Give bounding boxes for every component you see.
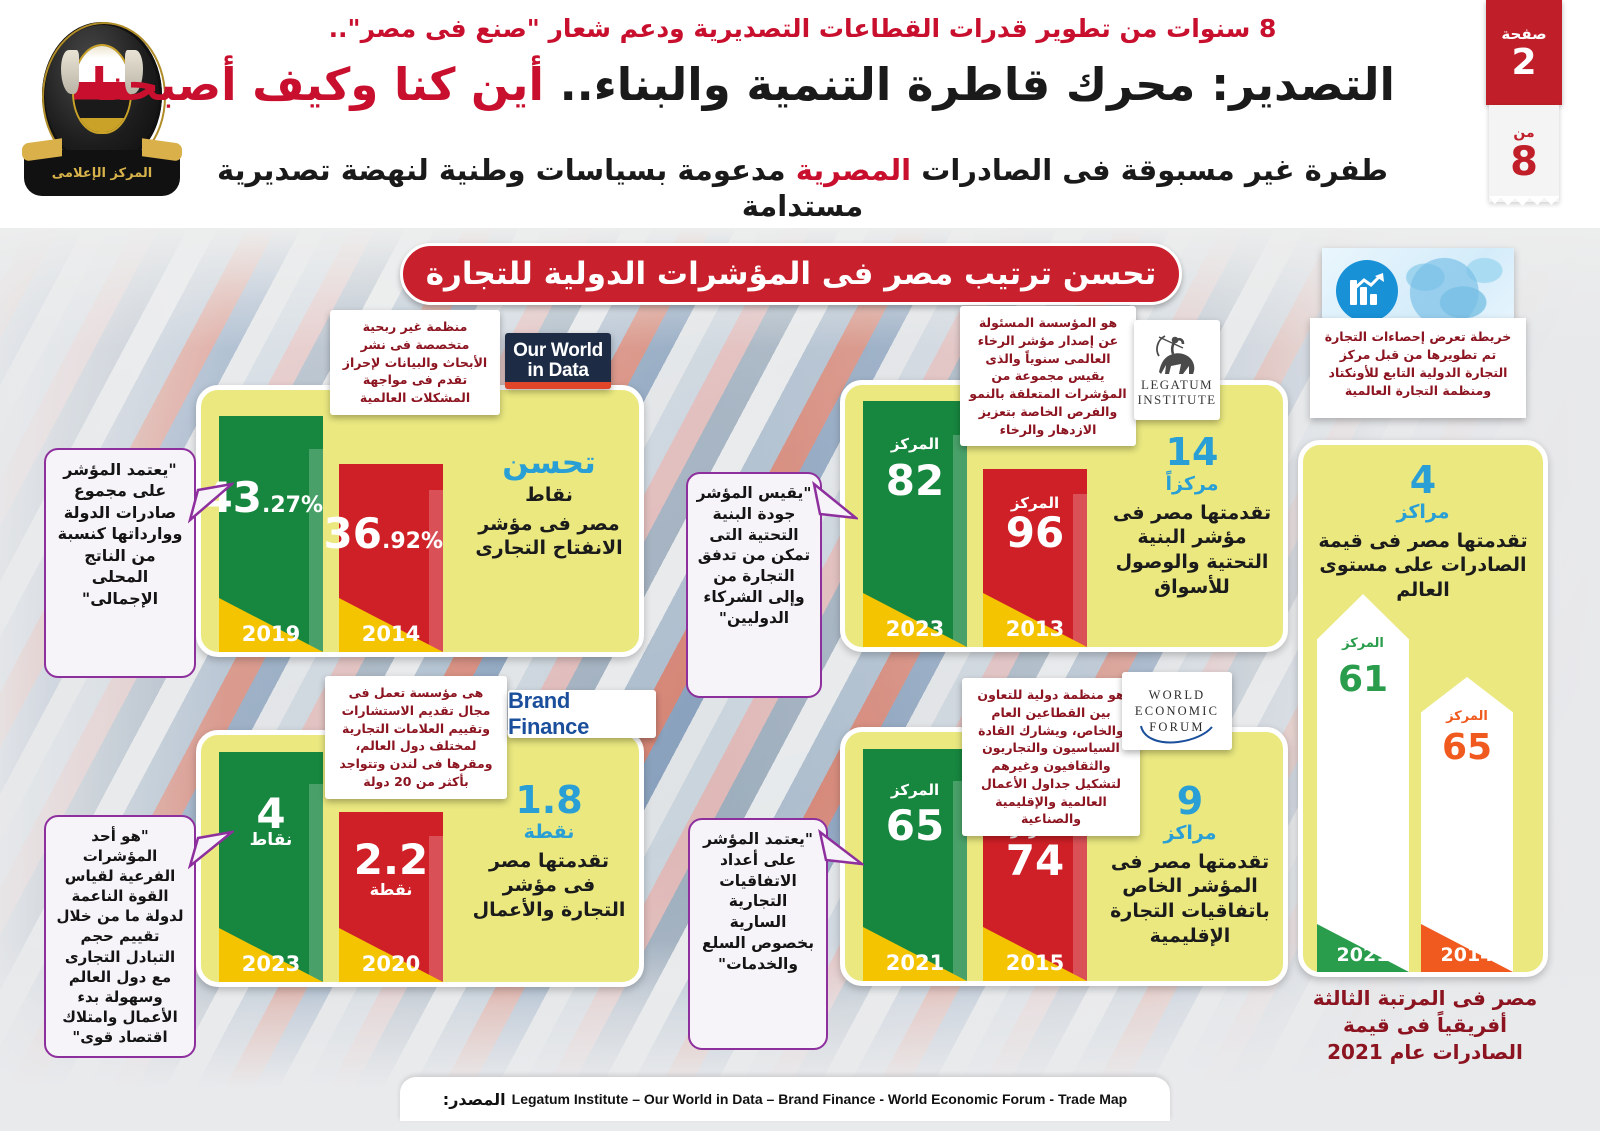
crest-banner-label: المركز الإعلامى [52, 166, 152, 181]
summary-text: تقدمتها مصر فى مؤشر البنية التحتية والوص… [1111, 501, 1273, 600]
legatum-line1: LEGATUM [1141, 377, 1213, 392]
bar-caption: المركز [863, 781, 967, 799]
summary-brand-trade: 1.8 نقطة تقدمتها مصر فى مؤشر التجارة وال… [471, 781, 627, 923]
bar-year: 2021 [863, 951, 967, 975]
bar-value: 2.2 [339, 839, 443, 881]
bar-value-main: 2.2 [354, 835, 428, 884]
section-banner-title: تحسن ترتيب مصر فى المؤشرات الدولية للتجا… [426, 256, 1157, 292]
bar-year: 2023 [219, 952, 323, 976]
wef-swoosh-icon [1138, 724, 1216, 744]
bar-value: 65 [863, 805, 967, 847]
note-brand-finance: هى مؤسسة تعمل فى مجال تقديم الاستشارات و… [325, 676, 507, 799]
bar-agree-2021: المركز 65 2021 [863, 749, 967, 981]
bar-year: 2014 [339, 622, 443, 646]
sources-list: Legatum Institute – Our World in Data – … [512, 1091, 1128, 1107]
our-world-in-data-logo: Our World in Data [505, 333, 611, 389]
callout-brand-trade: "هو أحد المؤشرات الفرعية لقياس القوة الن… [44, 815, 196, 1058]
bar-caption: المركز [863, 435, 967, 453]
summary-text: مصر فى مؤشر الانفتاح التجارى [473, 512, 625, 561]
sources-footer: Legatum Institute – Our World in Data – … [400, 1077, 1170, 1121]
bar-value-main: 96 [1006, 508, 1064, 557]
bar-value: 96 [983, 512, 1087, 554]
page-title-black: التصدير: محرك قاطرة التنمية والبناء.. [560, 58, 1395, 111]
note-world-economic-forum: هو منظمة دولية للتعاون بين القطاعين العا… [962, 678, 1140, 836]
legatum-institute-logo: LEGATUM INSTITUTE [1134, 320, 1220, 420]
bar-value-main: 65 [886, 801, 944, 850]
callout-regional-agreements: "يعتمد المؤشر على أعداد الاتفاقيات التجا… [688, 818, 828, 1050]
summary-text: تقدمتها مصر فى مؤشر التجارة والأعمال [471, 849, 627, 923]
bar-export-2014: المركز 65 2014 [1421, 677, 1513, 972]
section-banner: تحسن ترتيب مصر فى المؤشرات الدولية للتجا… [400, 243, 1182, 305]
callout-tail-agreements [818, 826, 864, 868]
infographic-page: المركز الإعلامى 8 سنوات من تطوير قدرات ا… [0, 0, 1600, 1131]
page-badge-bottom: من 8 [1489, 105, 1559, 202]
torn-paper-edge [1489, 196, 1559, 210]
note-trade-map: خريطة تعرض إحصاءات التجارة تم تطويرها من… [1310, 318, 1526, 418]
world-economic-forum-logo: WORLD ECONOMIC FORUM [1122, 672, 1232, 750]
growth-arrow-icon [1352, 272, 1386, 292]
bar-export-2021: المركز 61 2021 [1317, 594, 1409, 972]
page-title-red: أين كنا وكيف أصبحنا [92, 58, 544, 111]
bar-year: 2023 [863, 617, 967, 641]
page-number: 2 [1511, 45, 1536, 81]
page-title: التصدير: محرك قاطرة التنمية والبناء.. أي… [210, 58, 1395, 111]
summary-trade-openness: تحسن نقاط مصر فى مؤشر الانفتاح التجارى [473, 448, 625, 561]
bar-value: 36.92% [339, 513, 443, 555]
bar-year: 2013 [983, 617, 1087, 641]
bar-brand-2023: 4 نقاط 2023 [219, 752, 323, 982]
bar-value-main: 74 [1006, 836, 1064, 885]
callout-tail-infrastructure [812, 478, 858, 522]
bar-year: 2015 [983, 951, 1087, 975]
bar-openness-2019: 43.27% 2019 [219, 416, 323, 652]
bar-year: 2020 [339, 952, 443, 976]
summary-infrastructure: 14 مركزاً تقدمتها مصر فى مؤشر البنية الت… [1111, 433, 1273, 599]
crest-banner: المركز الإعلامى [24, 150, 180, 196]
summary-headline: تحسن [473, 448, 625, 479]
bar-brand-2020: 2.2 نقطة 2020 [339, 812, 443, 982]
bar-value-decimal: .27% [262, 493, 323, 518]
bar-infra-2013: المركز 96 2013 [983, 469, 1087, 647]
bar-caption: المركز [1421, 709, 1513, 724]
summary-unit: مركزاً [1111, 472, 1273, 497]
summary-text: تقدمتها مصر فى قيمة الصادرات على مستوى ا… [1303, 529, 1543, 603]
summary-export-value: 4 مراكز تقدمتها مصر فى قيمة الصادرات على… [1303, 461, 1543, 603]
bar-caption: المركز [1317, 636, 1409, 651]
panel-trade-openness: 43.27% 2019 36.92% 2014 تحسن نقاط مصر فى… [196, 385, 644, 657]
bar-year: 2021 [1317, 944, 1409, 966]
summary-unit: نقطة [471, 820, 627, 845]
wef-line1: WORLD [1149, 688, 1206, 702]
bar-year: 2019 [219, 622, 323, 646]
summary-headline: 4 [1303, 461, 1543, 499]
subtitle-part-a: طفرة غير مسبوقة فى الصادرات [921, 153, 1388, 187]
subtitle-highlight: المصرية [796, 153, 911, 187]
callout-infrastructure: "يقيس المؤشر جودة البنية التحتية التى تم… [686, 472, 822, 698]
bar-year: 2014 [1421, 944, 1513, 966]
summary-unit: مراكز [1303, 500, 1543, 525]
header-subtitle: طفرة غير مسبوقة فى الصادرات المصرية مدعو… [210, 152, 1395, 225]
bar-unit: نقاط [219, 830, 323, 850]
subtitle-part-b: مدعومة بسياسات وطنية لنهضة تصديرية مستدا… [217, 153, 863, 223]
total-pages: 8 [1510, 142, 1538, 182]
government-crest-logo: المركز الإعلامى [18, 22, 186, 202]
callout-tail-openness [188, 480, 234, 524]
bar-value-main: 36 [324, 509, 382, 558]
summary-unit: نقاط [473, 483, 625, 508]
bar-body [1317, 594, 1409, 972]
centaur-archer-icon [1149, 332, 1205, 378]
bar-value: 82 [863, 460, 967, 502]
summary-text: تقدمتها مصر فى المؤشر الخاص باتفاقيات ال… [1107, 850, 1273, 949]
brand-finance-logo: Brand Finance [508, 690, 656, 738]
bar-value: 61 [1317, 662, 1409, 698]
note-our-world-in-data: منظمة غير ربحية متخصصة فى نشر الأبحاث وا… [330, 310, 500, 415]
callout-tail-brand [188, 828, 234, 870]
page-number-badge: صفحة 2 من 8 [1486, 0, 1562, 212]
owid-line2: in Data [527, 360, 588, 381]
page-header: المركز الإعلامى 8 سنوات من تطوير قدرات ا… [0, 0, 1600, 228]
page-label: صفحة [1501, 25, 1546, 43]
legatum-line2: INSTITUTE [1137, 392, 1216, 407]
bar-value-decimal: .92% [382, 529, 443, 554]
brand-finance-wordmark: Brand Finance [508, 690, 656, 738]
source-label: المصدر: [443, 1090, 506, 1109]
bar-value: 43.27% [219, 477, 323, 519]
panel-export-value: 4 مراكز تقدمتها مصر فى قيمة الصادرات على… [1298, 440, 1548, 977]
note-legatum: هو المؤسسة المسئولة عن إصدار مؤشر الرخاء… [960, 306, 1136, 446]
bar-value-main: 82 [886, 456, 944, 505]
header-kicker: 8 سنوات من تطوير قدرات القطاعات التصديري… [210, 14, 1395, 44]
wef-line2: ECONOMIC [1135, 704, 1219, 718]
owid-red-stripe [505, 382, 611, 389]
bar-unit: نقطة [339, 880, 443, 899]
bar-openness-2014: 36.92% 2014 [339, 464, 443, 652]
bar-value: 4 [219, 793, 323, 835]
callout-trade-openness: "يعتمد المؤشر على مجموع صادرات الدولة وو… [44, 448, 196, 678]
owid-line1: Our World [513, 340, 603, 361]
africa-ranking-note: مصر فى المرتبة الثالثة أفريقياً فى قيمة … [1300, 985, 1550, 1066]
bar-infra-2023: المركز 82 2023 [863, 401, 967, 647]
bar-value: 65 [1421, 730, 1513, 766]
page-badge-top: صفحة 2 [1486, 0, 1562, 105]
bar-value: 74 [983, 840, 1087, 882]
